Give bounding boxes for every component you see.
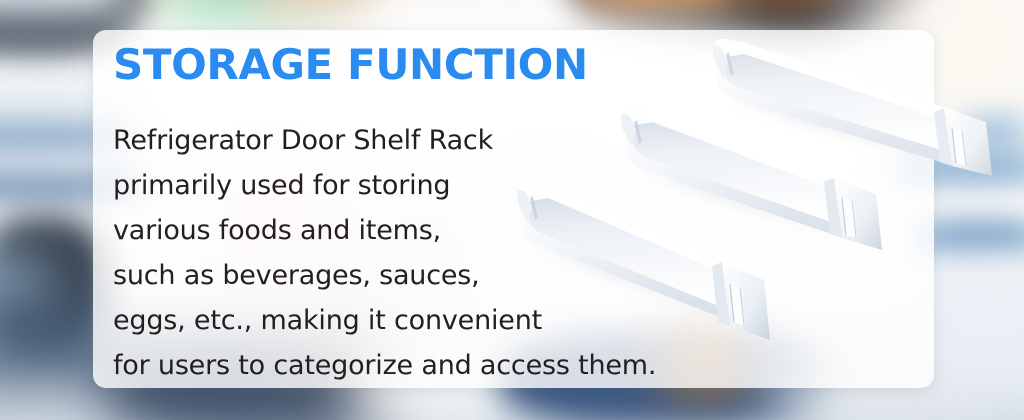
description-line: for users to categorize and access them. — [113, 343, 733, 388]
content-card: STORAGE FUNCTION Refrigerator Door Shelf… — [93, 30, 934, 388]
page-title: STORAGE FUNCTION — [113, 44, 588, 86]
description-text: Refrigerator Door Shelf Rack primarily u… — [113, 118, 733, 388]
description-line: various foods and items, — [113, 208, 733, 253]
description-line: eggs, etc., making it convenient — [113, 298, 733, 343]
description-line: such as beverages, sauces, — [113, 253, 733, 298]
description-line: primarily used for storing — [113, 163, 733, 208]
description-line: Refrigerator Door Shelf Rack — [113, 118, 733, 163]
banner-stage: STORAGE FUNCTION Refrigerator Door Shelf… — [0, 0, 1024, 420]
